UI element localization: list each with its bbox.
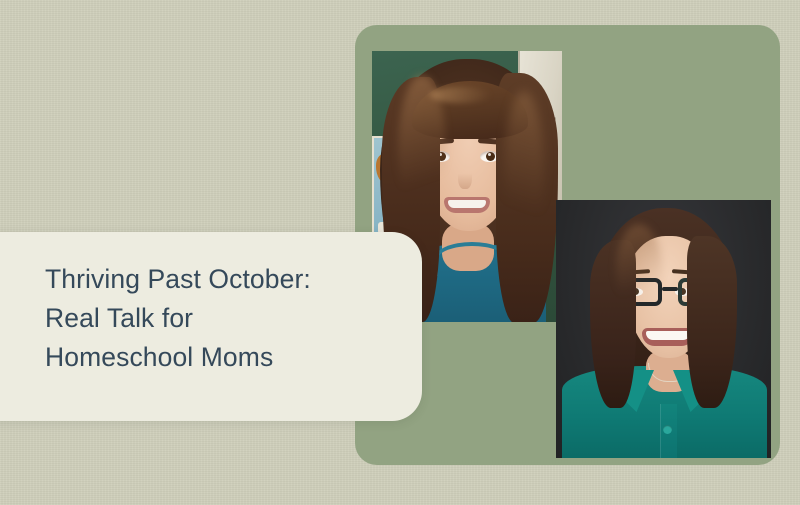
page-title: Thriving Past October: Real Talk for Hom…: [45, 260, 395, 377]
headshot-photo: [556, 200, 771, 458]
headshot-hair-highlight: [616, 224, 662, 314]
eyeglasses-bridge: [662, 287, 678, 291]
banner-canvas: Thriving Past October: Real Talk for Hom…: [0, 0, 800, 505]
selfie-hair-highlight-left: [398, 75, 446, 225]
title-card: Thriving Past October: Real Talk for Hom…: [0, 232, 422, 421]
selfie-smile: [444, 197, 490, 213]
selfie-hair-highlight-right: [504, 91, 544, 251]
selfie-nose: [458, 163, 472, 189]
headshot-shirt-button: [663, 425, 672, 434]
